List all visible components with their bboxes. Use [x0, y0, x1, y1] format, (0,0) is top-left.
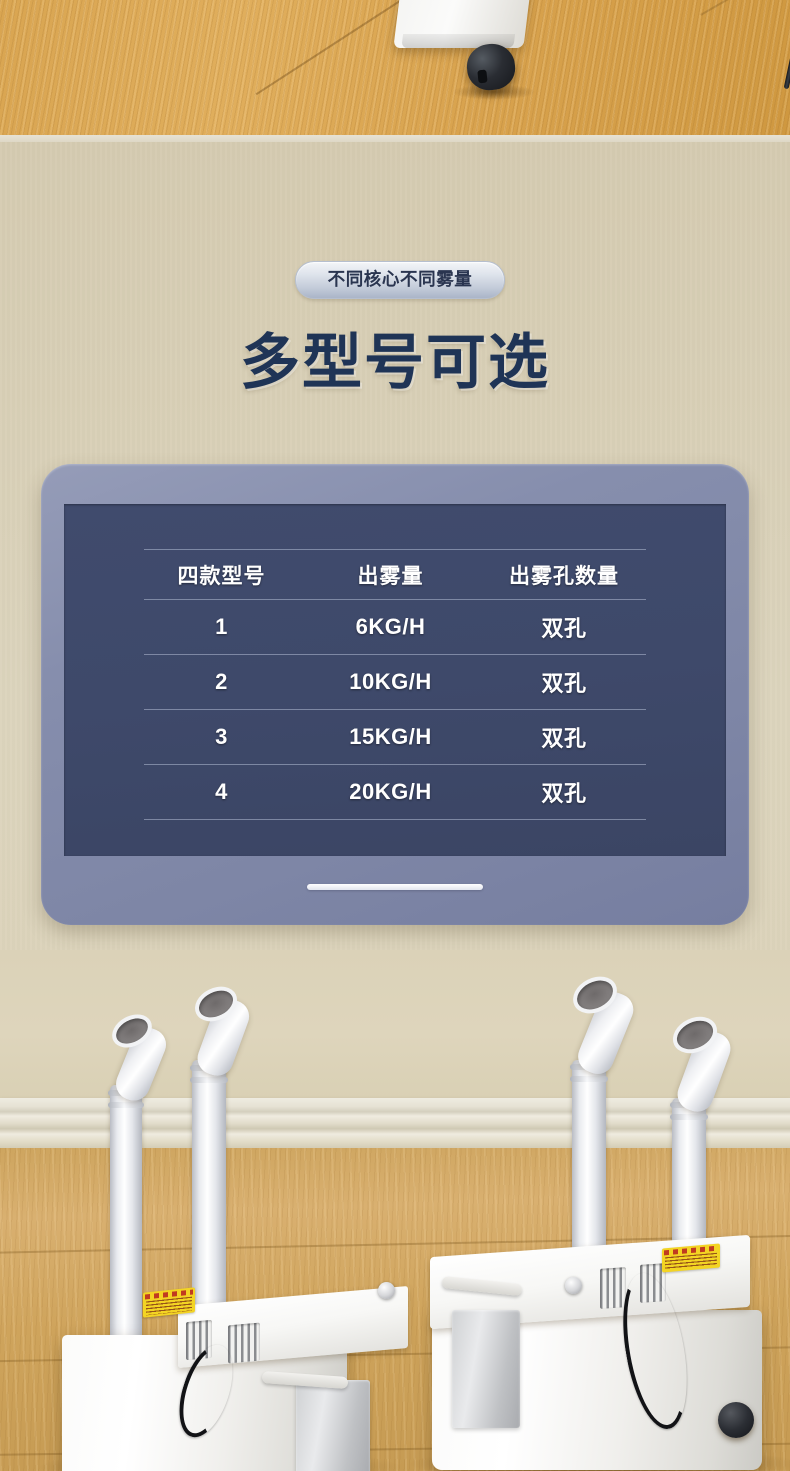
tablet-frame: 四款型号 出雾量 出雾孔数量 1 6KG/H 双孔 2 10KG/H 双孔 [41, 464, 749, 925]
caster-wheel-icon [718, 1402, 754, 1438]
pipe-ring [190, 1077, 228, 1083]
column-header-holes: 出雾孔数量 [482, 550, 646, 600]
pipe-ring [670, 1114, 708, 1120]
home-indicator-bar [307, 884, 483, 890]
column-header-output: 出雾量 [299, 550, 482, 600]
pipe-ring [108, 1102, 144, 1108]
tablet-screen: 四款型号 出雾量 出雾孔数量 1 6KG/H 双孔 2 10KG/H 双孔 [64, 504, 726, 856]
section-badge: 不同核心不同雾量 [295, 261, 505, 299]
table-row: 4 20KG/H 双孔 [144, 765, 646, 820]
cell-model: 1 [144, 600, 299, 655]
page-title: 多型号可选 [0, 333, 790, 393]
table-row: 2 10KG/H 双孔 [144, 655, 646, 710]
control-knob[interactable] [565, 1277, 582, 1294]
cell-holes: 双孔 [482, 655, 646, 710]
warning-label [662, 1243, 720, 1272]
cell-output: 20KG/H [299, 765, 482, 820]
product-photo [0, 950, 790, 1471]
pipe-tube [110, 1085, 142, 1355]
pipe-ring [570, 1076, 608, 1082]
cell-holes: 双孔 [482, 765, 646, 820]
vent-grille [600, 1267, 626, 1309]
cell-output: 6KG/H [299, 600, 482, 655]
table-row: 3 15KG/H 双孔 [144, 710, 646, 765]
cell-model: 3 [144, 710, 299, 765]
wood-floor-texture [0, 0, 790, 142]
cell-holes: 双孔 [482, 710, 646, 765]
table-row: 1 6KG/H 双孔 [144, 600, 646, 655]
vent-grille [228, 1323, 260, 1364]
service-panel [296, 1380, 370, 1471]
cell-model: 4 [144, 765, 299, 820]
table-header-row: 四款型号 出雾量 出雾孔数量 [144, 550, 646, 600]
column-header-model: 四款型号 [144, 550, 299, 600]
cell-output: 10KG/H [299, 655, 482, 710]
section-badge-label: 不同核心不同雾量 [328, 271, 473, 289]
cell-model: 2 [144, 655, 299, 710]
top-floor-photo [0, 0, 790, 142]
product-detail-page: 不同核心不同雾量 多型号可选 四款型号 出雾量 出雾孔数量 1 6KG/H 双孔 [0, 0, 790, 1471]
spec-table: 四款型号 出雾量 出雾孔数量 1 6KG/H 双孔 2 10KG/H 双孔 [144, 549, 646, 820]
machine-base-corner [393, 0, 536, 48]
cell-holes: 双孔 [482, 600, 646, 655]
cell-output: 15KG/H [299, 710, 482, 765]
photo-bottom-edge [0, 135, 790, 142]
service-panel [452, 1310, 520, 1428]
control-knob[interactable] [378, 1282, 395, 1299]
